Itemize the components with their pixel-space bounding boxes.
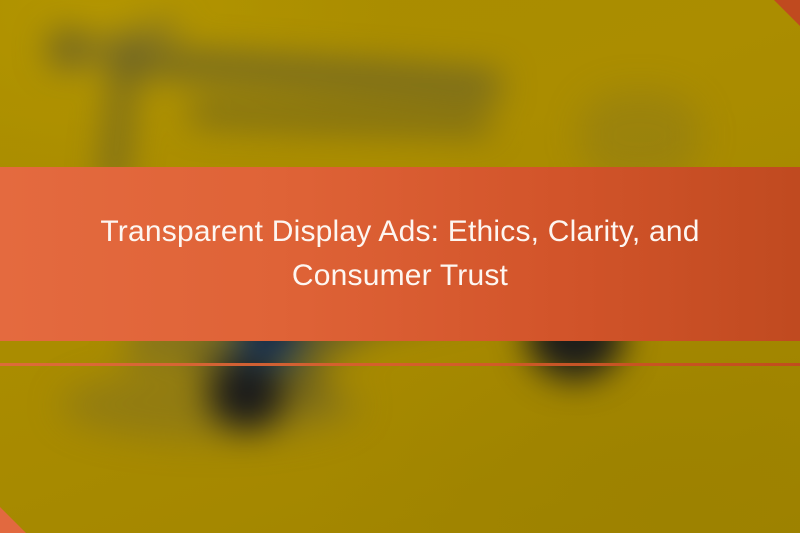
featured-image-card: Transparent Display Ads: Ethics, Clarity… (0, 0, 800, 533)
title-banner: Transparent Display Ads: Ethics, Clarity… (0, 167, 800, 341)
page-title: Transparent Display Ads: Ethics, Clarity… (0, 210, 800, 299)
corner-accent-bottom-left (0, 507, 26, 533)
corner-accent-top-right (774, 0, 800, 26)
cart-second-rail (190, 103, 491, 133)
horizontal-accent-rule (0, 363, 800, 366)
cart-wheel-bottom-left (208, 358, 286, 430)
cart-top-rail (110, 46, 501, 99)
